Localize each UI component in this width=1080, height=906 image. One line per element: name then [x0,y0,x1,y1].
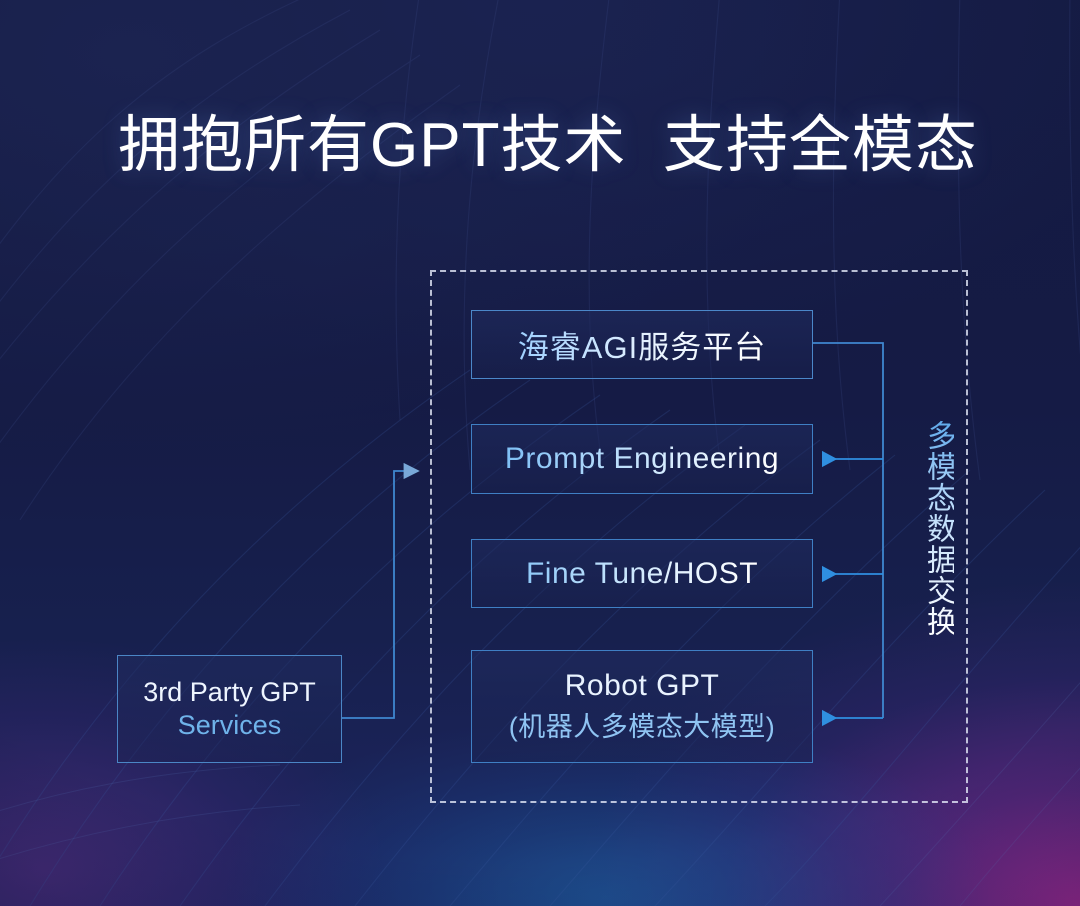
node-robot-gpt[interactable]: Robot GPT (机器人多模态大模型) [471,650,813,763]
node-third-party-sublabel: Services [178,710,282,741]
node-agi-platform-label: 海睿AGI服务平台 [518,322,766,367]
node-third-party-label: 3rd Party GPT [143,677,316,708]
node-fine-tune-host-label: Fine Tune/HOST [526,557,758,591]
node-fine-tune-host[interactable]: Fine Tune/HOST [471,539,813,608]
node-robot-gpt-label: Robot GPT [565,669,720,703]
slide-canvas: 拥抱所有GPT技术 支持全模态 [0,0,1080,906]
page-title: 拥抱所有GPT技术 支持全模态 [118,110,978,181]
node-agi-platform[interactable]: 海睿AGI服务平台 [471,310,813,379]
node-third-party-gpt-services[interactable]: 3rd Party GPT Services [117,655,342,763]
node-prompt-engineering[interactable]: Prompt Engineering [471,424,813,494]
vertical-label-multimodal-data-exchange: 多模态数据交换 [912,420,954,637]
node-robot-gpt-sublabel: (机器人多模态大模型) [509,705,775,744]
node-prompt-engineering-label: Prompt Engineering [505,442,779,476]
